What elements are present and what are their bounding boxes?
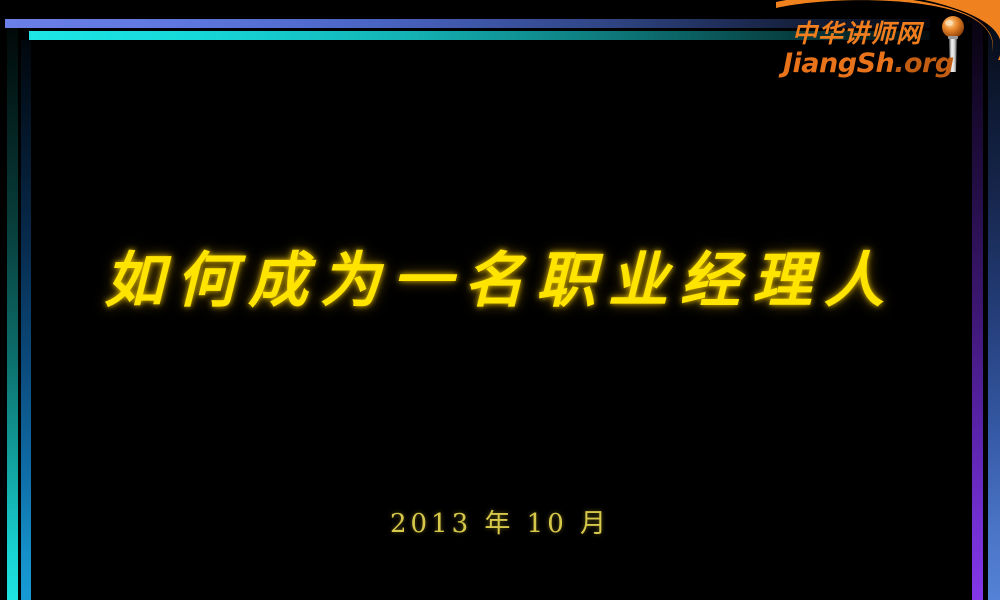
- watermark-brand-en-tld: .org: [894, 48, 953, 79]
- presentation-slide: 如何成为一名职业经理人 2013 年 10 月: [0, 0, 1000, 600]
- watermark-brand-en-name: JiangSh: [783, 48, 894, 79]
- watermark-brand-cn: 中华讲师网: [792, 14, 922, 50]
- slide-date: 2013 年 10 月: [0, 503, 1000, 540]
- slide-title: 如何成为一名职业经理人: [0, 232, 1000, 319]
- watermark-logo: 中华讲师网 JiangSh.org: [770, 0, 1000, 92]
- watermark-brand-en: JiangSh.org: [783, 48, 954, 79]
